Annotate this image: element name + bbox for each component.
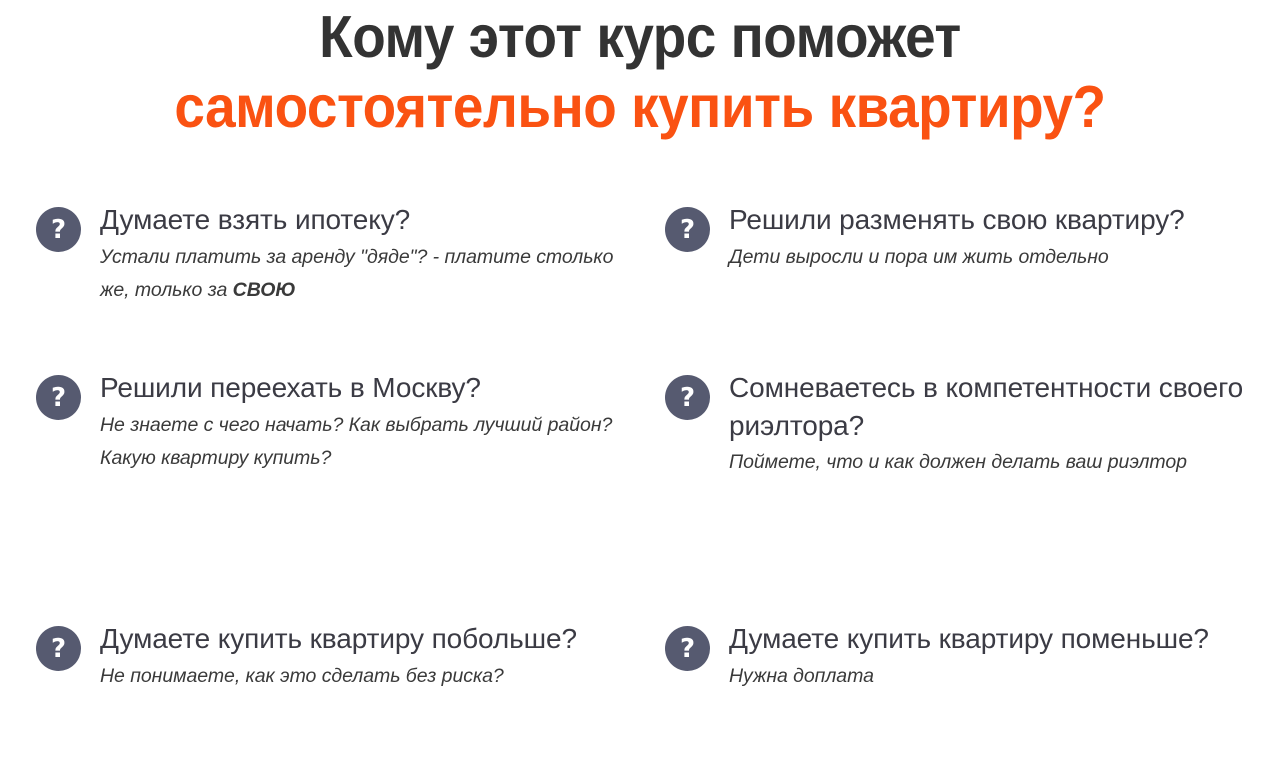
- question-mark-icon: ?: [36, 626, 81, 671]
- list-item-title: Думаете купить квартиру побольше?: [100, 620, 620, 658]
- grid-cell: ? Сомневаетесь в компетентности своего р…: [640, 369, 1280, 620]
- list-item-body: Сомневаетесь в компетентности своего риэ…: [729, 369, 1260, 480]
- list-item-title: Решили разменять свою квартиру?: [729, 201, 1260, 239]
- list-item-subtitle: Устали платить за аренду "дяде"? - плати…: [100, 241, 620, 309]
- headline-line-accent: самостоятельно купить квартиру?: [45, 76, 1235, 140]
- grid-cell: ? Решили разменять свою квартиру? Дети в…: [640, 201, 1280, 369]
- question-mark-icon: ?: [665, 626, 710, 671]
- grid-cell: ? Думаете купить квартиру поменьше? Нужн…: [640, 620, 1280, 760]
- list-item-body: Думаете купить квартиру поменьше? Нужна …: [729, 620, 1260, 693]
- list-item-title: Думаете купить квартиру поменьше?: [729, 620, 1260, 658]
- list-item: ? Решили разменять свою квартиру? Дети в…: [665, 201, 1260, 274]
- list-item-subtitle: Нужна доплата: [729, 660, 1260, 694]
- question-mark-glyph: ?: [36, 217, 81, 243]
- headline-line-primary: Кому этот курс поможет: [45, 6, 1235, 70]
- question-mark-icon: ?: [36, 375, 81, 420]
- list-item-subtitle-emphasis: СВОЮ: [233, 279, 296, 301]
- list-item: ? Думаете взять ипотеку? Устали платить …: [36, 201, 620, 308]
- question-mark-glyph: ?: [36, 636, 81, 662]
- benefits-grid: ? Думаете взять ипотеку? Устали платить …: [0, 201, 1280, 760]
- list-item-body: Решили разменять свою квартиру? Дети выр…: [729, 201, 1260, 274]
- page-title: Кому этот курс поможет самостоятельно ку…: [0, 0, 1280, 139]
- list-item-subtitle: Поймете, что и как должен делать ваш риэ…: [729, 446, 1260, 480]
- list-item: ? Думаете купить квартиру поменьше? Нужн…: [665, 620, 1260, 693]
- list-item-subtitle: Дети выросли и пора им жить отдельно: [729, 241, 1260, 275]
- list-item-body: Думаете купить квартиру побольше? Не пон…: [100, 620, 620, 693]
- list-item: ? Думаете купить квартиру побольше? Не п…: [36, 620, 620, 693]
- list-item-body: Решили переехать в Москву? Не знаете с ч…: [100, 369, 620, 476]
- question-mark-glyph: ?: [36, 385, 81, 411]
- list-item-subtitle-text: Устали платить за аренду "дяде"? - плати…: [100, 246, 613, 302]
- list-item-body: Думаете взять ипотеку? Устали платить за…: [100, 201, 620, 308]
- list-item-subtitle: Не знаете с чего начать? Как выбрать луч…: [100, 409, 620, 477]
- grid-cell: ? Думаете взять ипотеку? Устали платить …: [0, 201, 640, 369]
- list-item: ? Решили переехать в Москву? Не знаете с…: [36, 369, 620, 476]
- question-mark-glyph: ?: [665, 217, 710, 243]
- grid-cell: ? Решили переехать в Москву? Не знаете с…: [0, 369, 640, 620]
- question-mark-icon: ?: [36, 207, 81, 252]
- list-item-title: Думаете взять ипотеку?: [100, 201, 620, 239]
- list-item: ? Сомневаетесь в компетентности своего р…: [665, 369, 1260, 480]
- list-item-subtitle: Не понимаете, как это сделать без риска?: [100, 660, 620, 694]
- slide-root: Кому этот курс поможет самостоятельно ку…: [0, 0, 1280, 755]
- list-item-title: Решили переехать в Москву?: [100, 369, 620, 407]
- list-item-title: Сомневаетесь в компетентности своего риэ…: [729, 369, 1260, 444]
- grid-cell: ? Думаете купить квартиру побольше? Не п…: [0, 620, 640, 760]
- question-mark-glyph: ?: [665, 636, 710, 662]
- question-mark-icon: ?: [665, 207, 710, 252]
- question-mark-icon: ?: [665, 375, 710, 420]
- question-mark-glyph: ?: [665, 385, 710, 411]
